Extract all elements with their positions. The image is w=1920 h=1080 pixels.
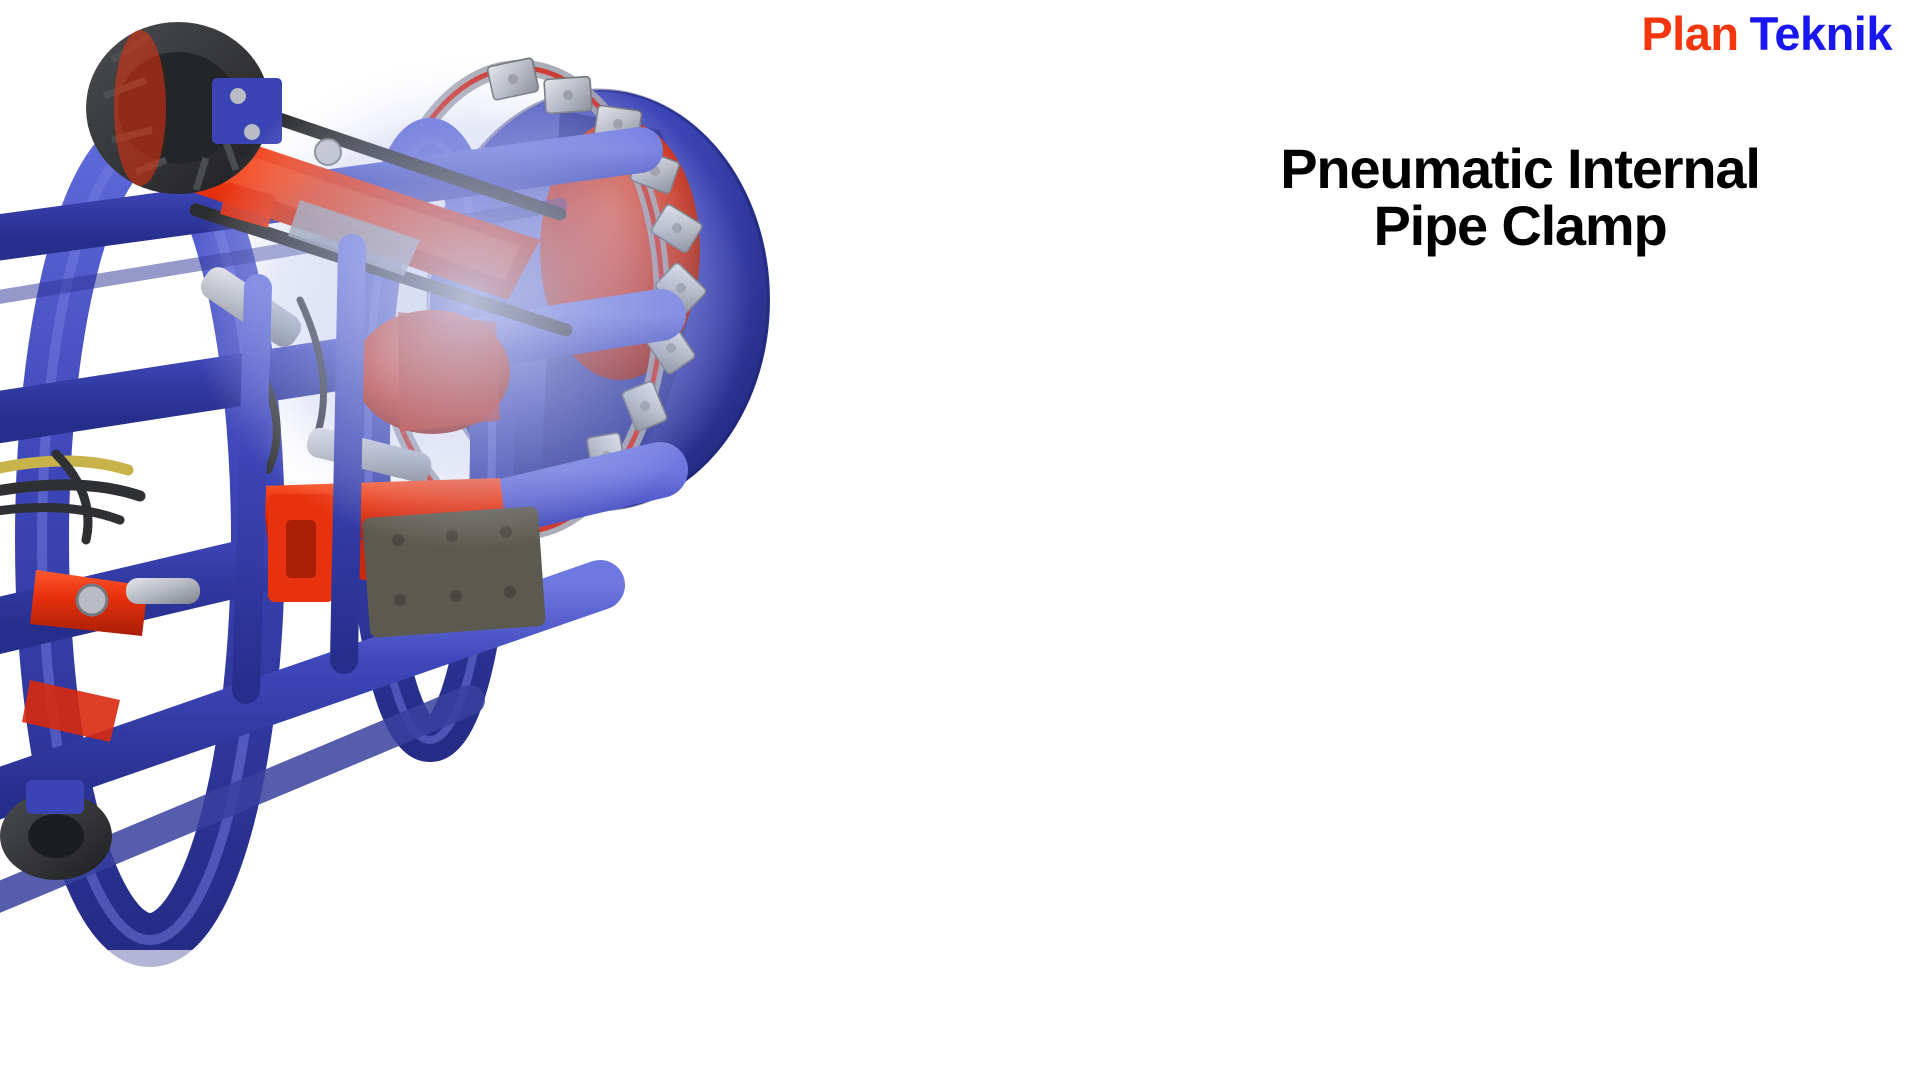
photo-right-fade: [760, 0, 1160, 1080]
page-title-line-1: Pneumatic Internal: [1150, 140, 1890, 198]
brand-name-teknik: Teknik: [1750, 7, 1892, 60]
page-title-line-2: Pipe Clamp: [1150, 197, 1890, 255]
content-column: PlanTeknik Pneumatic Internal Pipe Clamp…: [1150, 0, 1920, 1080]
brand-name-plan: Plan: [1641, 7, 1738, 60]
product-photo-illustration: [0, 0, 1160, 1080]
photo-bottom-fade: [0, 950, 1160, 1080]
page-title: Pneumatic Internal Pipe Clamp: [1150, 140, 1890, 255]
brand-logo: PlanTeknik: [1641, 10, 1892, 57]
product-photo: [0, 0, 1160, 1080]
photo-lens-bloom: [190, 50, 750, 550]
promo-slide: PlanTeknik Pneumatic Internal Pipe Clamp…: [0, 0, 1920, 1080]
